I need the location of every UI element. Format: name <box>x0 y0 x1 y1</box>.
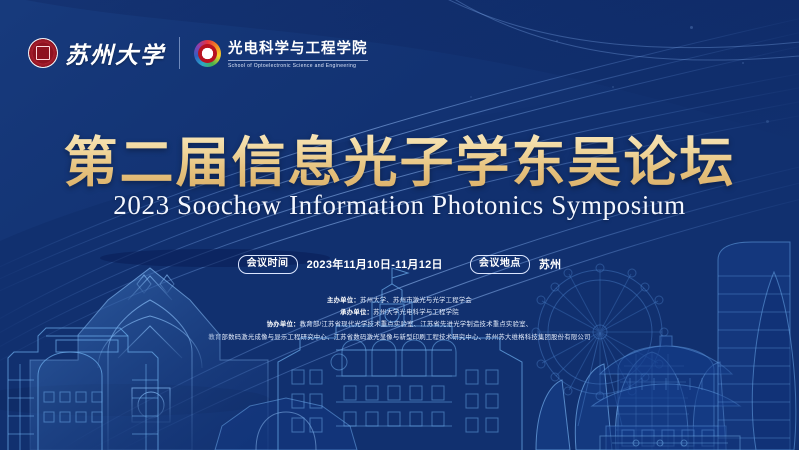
school-logo: 光电科学与工程学院 School of Optoelectronic Scien… <box>194 37 368 69</box>
page-title: 第二届信息光子学东吴论坛 <box>0 118 799 197</box>
logo-divider <box>179 37 180 69</box>
school-name-cn: 光电科学与工程学院 <box>228 37 368 58</box>
optoelectronic-school-seal-icon <box>194 40 221 67</box>
suzhou-skyline <box>0 240 799 450</box>
soochow-university-seal-icon <box>28 38 58 68</box>
university-logo: 苏州大学 <box>28 36 165 70</box>
foreground-platform <box>600 436 740 450</box>
gate-of-the-orient-tower-silhouette <box>718 242 796 450</box>
conference-poster: 苏州大学 光电科学与工程学院 School of Optoelectronic … <box>0 0 799 450</box>
university-wordmark: 苏州大学 <box>65 36 165 70</box>
school-name-en: School of Optoelectronic Science and Eng… <box>228 60 368 69</box>
header-logos: 苏州大学 光电科学与工程学院 School of Optoelectronic … <box>28 36 368 70</box>
page-subtitle: 2023 Soochow Information Photonics Sympo… <box>0 190 799 221</box>
